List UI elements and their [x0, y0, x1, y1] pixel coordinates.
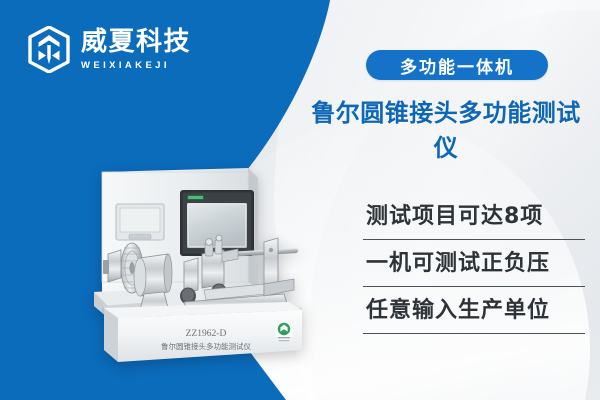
product-banner: 威夏科技 WEIXIAKEJI 多功能一体机 鲁尔圆锥接头多功能测试仪 测试项目… — [0, 0, 600, 400]
feature-item: 测试项目可达8项 — [363, 196, 585, 240]
page-title: 鲁尔圆锥接头多功能测试仪 — [300, 93, 592, 163]
product-category-badge: 多功能一体机 — [366, 50, 548, 80]
feature-item: 一机可测试正负压 — [363, 243, 585, 287]
brand-name-cn: 威夏科技 — [81, 29, 191, 55]
product-model-name-label: 鲁尔圆锥接头多功能测试仪 — [161, 341, 251, 351]
hexagon-shield-logo-icon — [28, 26, 70, 73]
feature-divider — [363, 239, 585, 240]
brand-name-en: WEIXIAKEJI — [81, 61, 191, 71]
feature-item: 任意输入生产单位 — [363, 290, 585, 334]
feature-divider — [363, 286, 585, 287]
feature-item-label: 一机可测试正负压 — [363, 243, 585, 285]
feature-item-label: 测试项目可达8项 — [363, 196, 585, 238]
brand-logo: 威夏科技 WEIXIAKEJI — [28, 26, 191, 73]
product-category-badge-label: 多功能一体机 — [400, 53, 514, 78]
feature-divider — [363, 333, 585, 334]
product-model-label: ZZ1962-D — [186, 329, 227, 339]
feature-list: 测试项目可达8项 一机可测试正负压 任意输入生产单位 — [363, 196, 585, 337]
product-photo: ZZ1962-D 鲁尔圆锥接头多功能测试仪 — [88, 166, 312, 371]
feature-item-label: 任意输入生产单位 — [363, 290, 585, 332]
